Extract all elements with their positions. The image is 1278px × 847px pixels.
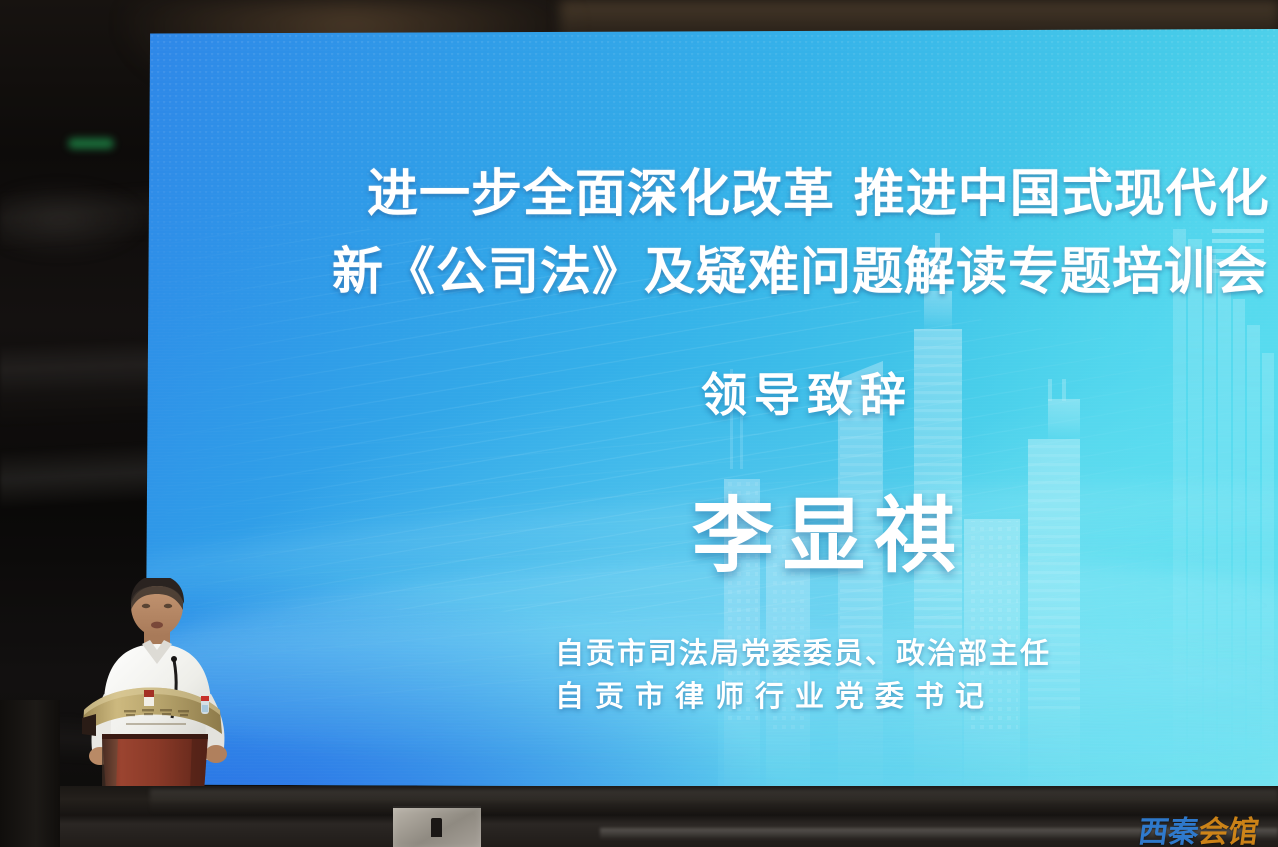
stage-equipment-box: [393, 806, 481, 847]
stage-floor-reflection: [150, 789, 1278, 815]
slide-text-layer: 进一步全面深化改革 推进中国式现代化 新《公司法》及疑难问题解读专题培训会 领导…: [145, 29, 1278, 789]
watermark: 西秦会馆: [1136, 807, 1262, 847]
stage-left-post: [0, 700, 60, 847]
slide-title-line-2: 新《公司法》及疑难问题解读专题培训会: [332, 230, 1268, 304]
speaker-name: 李显祺: [692, 469, 965, 588]
backdrop-shadow-blob: [0, 180, 150, 260]
speaker-title-line-1: 自贡市司法局党委委员、政治部主任: [555, 630, 1051, 672]
equipment-box-slot: [431, 818, 442, 837]
watermark-part-b: 会馆: [1196, 815, 1261, 847]
led-presentation-screen: 进一步全面深化改革 推进中国式现代化 新《公司法》及疑难问题解读专题培训会 领导…: [145, 29, 1278, 789]
speaker-title-line-2: 自贡市律师行业党委书记: [555, 673, 995, 715]
watermark-part-a: 西秦: [1136, 815, 1201, 847]
slide-section-label: 领导致辞: [701, 359, 913, 425]
stage-scene: 进一步全面深化改革 推进中国式现代化 新《公司法》及疑难问题解读专题培训会 领导…: [0, 0, 1278, 847]
green-exit-light: [68, 138, 114, 149]
slide-title-line-1: 进一步全面深化改革 推进中国式现代化: [367, 152, 1270, 226]
